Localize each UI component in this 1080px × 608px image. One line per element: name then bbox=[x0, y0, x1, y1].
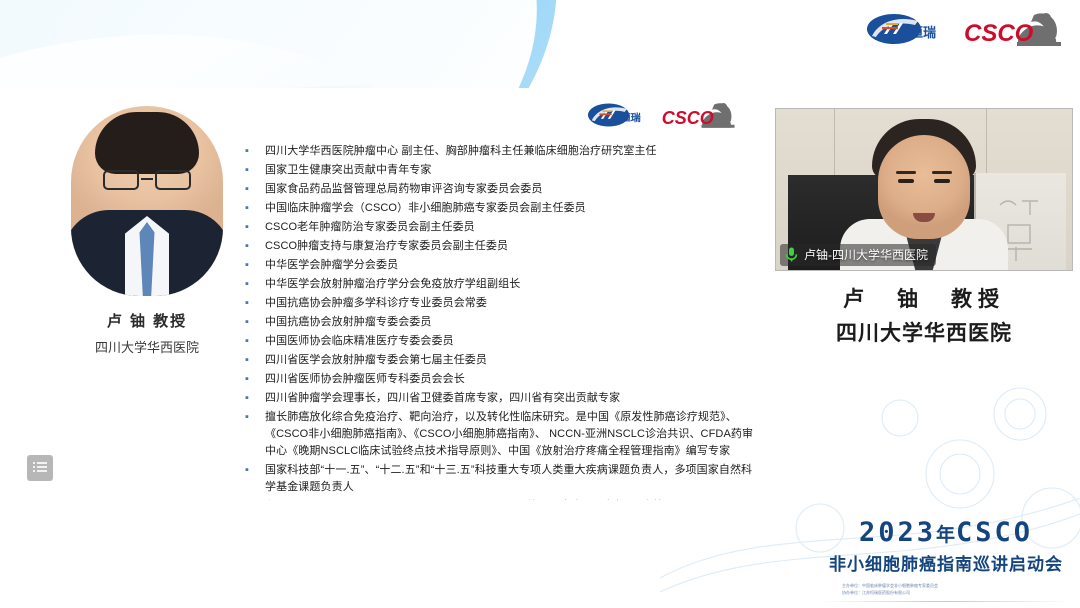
credential-bullet-item: ▪四川大学华西医院肿瘤中心 副主任、胸部肿瘤科主任兼临床细胞治疗研究室主任 bbox=[243, 143, 755, 160]
participant-video-tile[interactable]: 卢铀-四川大学华西医院 bbox=[775, 108, 1073, 271]
event-csco-label: CSCO bbox=[956, 517, 1033, 548]
bullet-marker-icon: ▪ bbox=[243, 295, 265, 312]
credential-bullet-item: ▪中华医学会放射肿瘤治疗学分会免疫放疗学组副组长 bbox=[243, 276, 755, 293]
svg-text:CSCO: CSCO bbox=[662, 108, 714, 128]
bullet-marker-icon: ▪ bbox=[243, 238, 265, 255]
bullet-marker-icon: ▪ bbox=[243, 462, 265, 479]
credential-bullet-text: 擅长肺癌放化综合免疫治疗、靶向治疗，以及转化性临床研究。是中国《原发性肺癌诊疗规… bbox=[265, 409, 755, 460]
event-organizer-line-1: 主办单位：中国临床肿瘤学会非小细胞肺癌专家委员会 bbox=[842, 582, 1072, 590]
speaker-portrait-block: 卢 铀 教授 四川大学华西医院 bbox=[32, 106, 262, 356]
event-year-number: 2023 bbox=[859, 517, 936, 548]
bullet-marker-icon: ▪ bbox=[243, 352, 265, 369]
credential-bullet-item: ▪中国临床肿瘤学会（CSCO）非小细胞肺癌专家委员会副主任委员 bbox=[243, 200, 755, 217]
credential-bullet-item: ▪CSCO老年肿瘤防治专家委员会副主任委员 bbox=[243, 219, 755, 236]
event-year-cn: 年 bbox=[936, 525, 956, 546]
credential-bullet-item: ▪国家卫生健康突出贡献中青年专家 bbox=[243, 162, 755, 179]
credential-bullet-text: 国家科技部“十一.五”、“十二.五”和“十三.五”科技重大专项人类重大疾病课题负… bbox=[265, 462, 755, 496]
credential-bullet-item: ▪四川省医学会放射肿瘤专委会第七届主任委员 bbox=[243, 352, 755, 369]
bullet-marker-icon: ▪ bbox=[243, 257, 265, 274]
portrait-speaker-org: 四川大学华西医院 bbox=[32, 337, 262, 356]
slide-content: 恒瑞 CSCO 卢 铀 教授 bbox=[0, 88, 768, 500]
credential-bullet-item: ▪中国抗癌协会肿瘤多学科诊疗专业委员会常委 bbox=[243, 295, 755, 312]
participant-nameplate: 卢铀-四川大学华西医院 bbox=[780, 244, 936, 266]
event-year-title: 2023年CSCO bbox=[820, 519, 1072, 546]
credential-bullet-text: 国家食品药品监督管理总局药物审评咨询专家委员会委员 bbox=[265, 181, 755, 198]
header-logo-bar: 恒瑞 CSCO bbox=[866, 9, 1068, 49]
credential-bullet-text: 中国抗癌协会肿瘤多学科诊疗专业委员会常委 bbox=[265, 295, 755, 312]
list-view-button[interactable] bbox=[27, 455, 53, 481]
credential-bullet-text: 四川大学华西医院肿瘤中心 副主任、胸部肿瘤科主任兼临床细胞治疗研究室主任 bbox=[265, 143, 755, 160]
credentials-bullet-list: ▪四川大学华西医院肿瘤中心 副主任、胸部肿瘤科主任兼临床细胞治疗研究室主任▪国家… bbox=[243, 143, 755, 500]
slide-logo-bar: 恒瑞 CSCO bbox=[586, 100, 742, 130]
bullet-marker-icon: ▪ bbox=[243, 390, 265, 407]
bullet-marker-icon: ▪ bbox=[243, 498, 265, 500]
portrait-speaker-name: 卢 铀 教授 bbox=[32, 310, 262, 331]
credential-bullet-item: ▪四川省医师协会肿瘤医师专科委员会会长 bbox=[243, 371, 755, 388]
credential-bullet-item: ▪中国抗癌协会放射肿瘤专委会委员 bbox=[243, 314, 755, 331]
bullet-marker-icon: ▪ bbox=[243, 219, 265, 236]
credential-bullet-item: ▪在Nat Med，the Lancet Oncol, J Clin Oncol… bbox=[243, 498, 755, 500]
microphone-icon[interactable] bbox=[785, 247, 798, 262]
bullet-marker-icon: ▪ bbox=[243, 181, 265, 198]
credential-bullet-text: 四川省医师协会肿瘤医师专科委员会会长 bbox=[265, 371, 755, 388]
bullet-marker-icon: ▪ bbox=[243, 143, 265, 160]
credential-bullet-item: ▪国家食品药品监督管理总局药物审评咨询专家委员会委员 bbox=[243, 181, 755, 198]
csco-logo: CSCO bbox=[658, 100, 742, 130]
speaker-portrait-photo bbox=[71, 106, 223, 296]
event-branding: 2023年CSCO 非小细胞肺癌指南巡讲启动会 主办单位：中国临床肿瘤学会非小细… bbox=[820, 519, 1072, 602]
event-divider bbox=[820, 601, 1072, 602]
svg-text:CSCO: CSCO bbox=[964, 20, 1034, 47]
credential-bullet-text: 四川省医学会放射肿瘤专委会第七届主任委员 bbox=[265, 352, 755, 369]
credential-bullet-text: 国家卫生健康突出贡献中青年专家 bbox=[265, 162, 755, 179]
csco-logo: CSCO bbox=[962, 9, 1068, 49]
bullet-marker-icon: ▪ bbox=[243, 276, 265, 293]
bullet-marker-icon: ▪ bbox=[243, 371, 265, 388]
speaker-organization: 四川大学华西医院 bbox=[775, 317, 1073, 347]
credential-bullet-text: 四川省肿瘤学会理事长，四川省卫健委首席专家，四川省有突出贡献专家 bbox=[265, 390, 755, 407]
credential-bullet-text: CSCO老年肿瘤防治专家委员会副主任委员 bbox=[265, 219, 755, 236]
bullet-marker-icon: ▪ bbox=[243, 333, 265, 350]
credential-bullet-item: ▪擅长肺癌放化综合免疫治疗、靶向治疗，以及转化性临床研究。是中国《原发性肺癌诊疗… bbox=[243, 409, 755, 460]
event-subtitle: 非小细胞肺癌指南巡讲启动会 bbox=[820, 550, 1072, 575]
bullet-marker-icon: ▪ bbox=[243, 409, 265, 426]
screen-root: 恒瑞 CSCO bbox=[0, 0, 1080, 608]
person-face bbox=[878, 135, 970, 239]
credential-bullet-item: ▪中华医学会肿瘤学分会委员 bbox=[243, 257, 755, 274]
credential-bullet-item: ▪中国医师协会临床精准医疗专委会委员 bbox=[243, 333, 755, 350]
credential-bullet-text: 中华医学会放射肿瘤治疗学分会免疫放疗学组副组长 bbox=[265, 276, 755, 293]
speaker-name: 卢 铀 教授 bbox=[775, 283, 1073, 313]
speaker-caption: 卢 铀 教授 四川大学华西医院 bbox=[775, 283, 1073, 347]
list-icon bbox=[33, 462, 47, 474]
credential-bullet-text: 中国医师协会临床精准医疗专委会委员 bbox=[265, 333, 755, 350]
credential-bullet-text: 中国临床肿瘤学会（CSCO）非小细胞肺癌专家委员会副主任委员 bbox=[265, 200, 755, 217]
bullet-marker-icon: ▪ bbox=[243, 200, 265, 217]
shared-slide[interactable]: 恒瑞 CSCO 卢 铀 教授 bbox=[0, 88, 768, 500]
hengrui-logo: 恒瑞 bbox=[586, 102, 648, 128]
bullet-marker-icon: ▪ bbox=[243, 314, 265, 331]
credential-bullet-item: ▪CSCO肿瘤支持与康复治疗专家委员会副主任委员 bbox=[243, 238, 755, 255]
hengrui-logo: 恒瑞 bbox=[866, 12, 944, 46]
svg-text:恒瑞: 恒瑞 bbox=[621, 111, 641, 124]
credential-bullet-text: 在Nat Med，the Lancet Oncol, J Clin Oncol,… bbox=[265, 498, 755, 500]
credential-bullet-item: ▪国家科技部“十一.五”、“十二.五”和“十三.五”科技重大专项人类重大疾病课题… bbox=[243, 462, 755, 496]
credential-bullet-text: 中华医学会肿瘤学分会委员 bbox=[265, 257, 755, 274]
credential-bullet-item: ▪四川省肿瘤学会理事长，四川省卫健委首席专家，四川省有突出贡献专家 bbox=[243, 390, 755, 407]
svg-text:恒瑞: 恒瑞 bbox=[910, 25, 936, 40]
credential-bullet-text: CSCO肿瘤支持与康复治疗专家委员会副主任委员 bbox=[265, 238, 755, 255]
credential-bullet-text: 中国抗癌协会放射肿瘤专委会委员 bbox=[265, 314, 755, 331]
participant-name-label: 卢铀-四川大学华西医院 bbox=[804, 246, 928, 263]
event-organizer-line-2: 协办单位：江苏恒瑞医药股份有限公司 bbox=[842, 589, 1072, 597]
bullet-marker-icon: ▪ bbox=[243, 162, 265, 179]
glasses-icon bbox=[101, 170, 193, 190]
